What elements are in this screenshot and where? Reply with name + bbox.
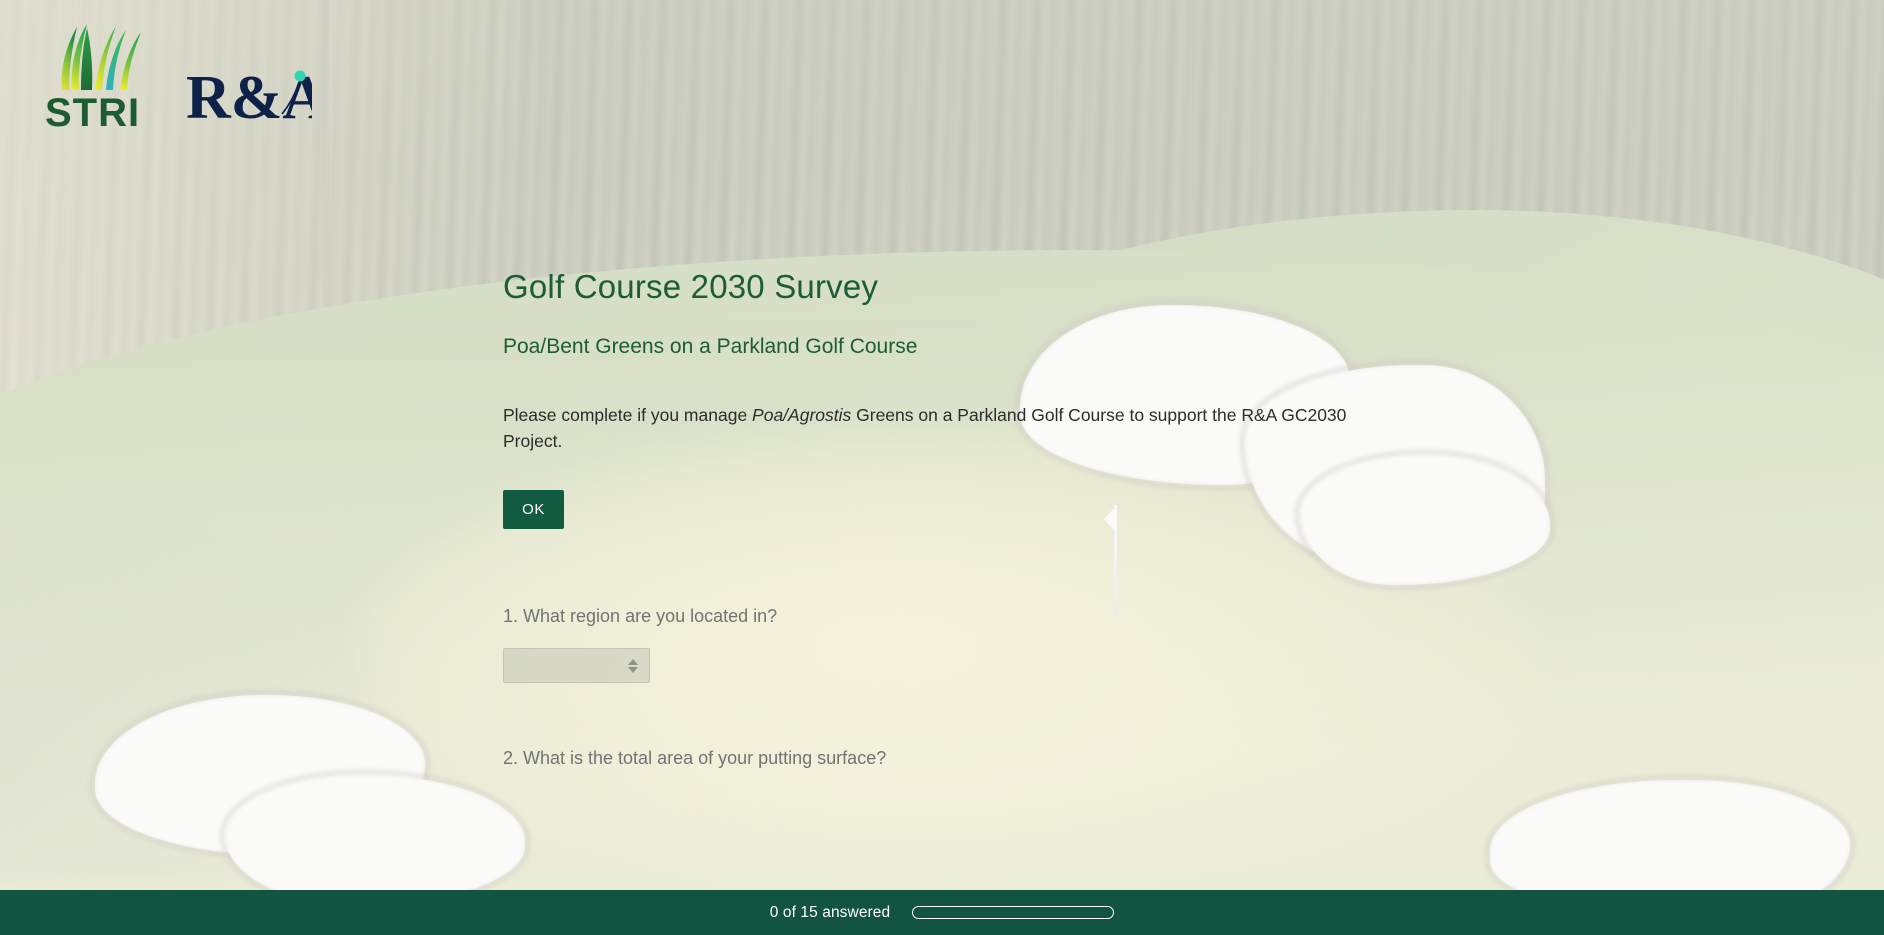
page-subtitle: Poa/Bent Greens on a Parkland Golf Cours… [503, 306, 1403, 359]
region-select-wrapper[interactable] [503, 648, 650, 683]
logo-bar: STRI R&A [40, 22, 312, 134]
intro-text-before: Please complete if you manage [503, 405, 752, 425]
ok-button[interactable]: OK [503, 490, 564, 529]
randa-logo: R&A [186, 60, 312, 134]
randa-wordmark-icon: R&A [186, 60, 312, 134]
stri-grass-icon: STRI [40, 22, 160, 134]
question-1: 1. What region are you located in? [503, 605, 1403, 683]
survey-page: STRI R&A Golf Course 2030 Survey Poa/Ben… [0, 0, 1884, 935]
intro-paragraph: Please complete if you manage Poa/Agrost… [503, 359, 1383, 454]
survey-content: Golf Course 2030 Survey Poa/Bent Greens … [503, 0, 1403, 771]
region-select[interactable] [503, 648, 650, 683]
intro-text-italic: Poa/Agrostis [752, 405, 851, 425]
progress-footer: 0 of 15 answered [0, 890, 1884, 935]
question-2: 2. What is the total area of your puttin… [503, 747, 1403, 770]
question-1-label: 1. What region are you located in? [503, 605, 1403, 628]
question-2-label: 2. What is the total area of your puttin… [503, 747, 1403, 770]
svg-text:STRI: STRI [45, 91, 140, 134]
stri-logo: STRI [40, 22, 160, 134]
answered-count-label: 0 of 15 answered [770, 904, 891, 922]
progress-bar [912, 906, 1114, 919]
page-title: Golf Course 2030 Survey [503, 0, 1403, 306]
